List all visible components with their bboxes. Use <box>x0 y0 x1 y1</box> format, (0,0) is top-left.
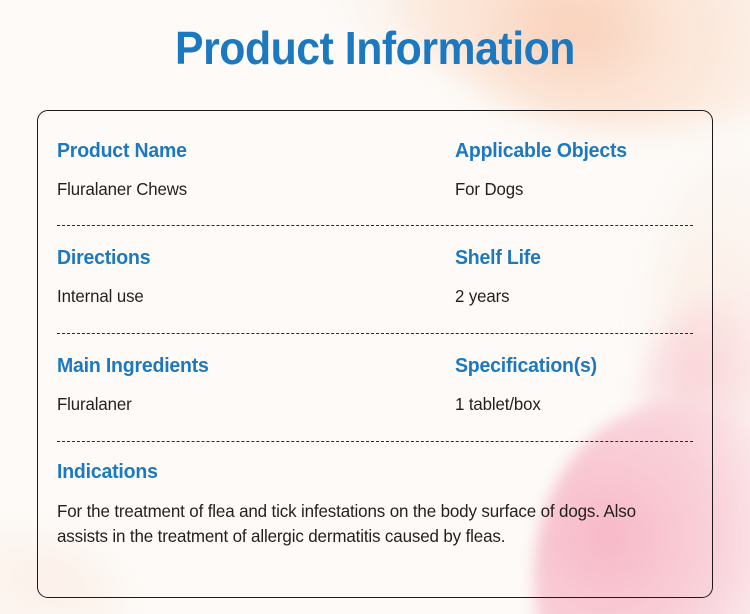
field-label-main-ingredients: Main Ingredients <box>57 354 435 378</box>
field-value-product-name: Fluralaner Chews <box>57 178 439 200</box>
info-row-product-name: Product Name Fluralaner Chews Applicable… <box>57 111 693 200</box>
field-label-specifications: Specification(s) <box>455 354 681 378</box>
info-field-specifications: Specification(s) 1 tablet/box <box>455 354 693 415</box>
info-field-directions: Directions Internal use <box>57 246 455 307</box>
field-label-applicable-objects: Applicable Objects <box>455 139 681 163</box>
info-field-indications: Indications For the treatment of flea an… <box>57 442 693 548</box>
field-value-main-ingredients: Fluralaner <box>57 393 439 415</box>
field-value-specifications: 1 tablet/box <box>455 393 683 415</box>
field-label-indications: Indications <box>57 460 661 484</box>
product-information-card: Product Name Fluralaner Chews Applicable… <box>37 110 713 598</box>
info-field-applicable-objects: Applicable Objects For Dogs <box>455 139 693 200</box>
field-value-shelf-life: 2 years <box>455 285 683 307</box>
info-row-directions: Directions Internal use Shelf Life 2 yea… <box>57 226 693 307</box>
product-information-card-page: Product Information Product Name Flurala… <box>0 0 750 614</box>
info-row-main-ingredients: Main Ingredients Fluralaner Specificatio… <box>57 334 693 415</box>
field-value-applicable-objects: For Dogs <box>455 178 683 200</box>
page-title: Product Information <box>26 20 724 76</box>
info-field-shelf-life: Shelf Life 2 years <box>455 246 693 307</box>
field-label-product-name: Product Name <box>57 139 435 163</box>
info-field-product-name: Product Name Fluralaner Chews <box>57 139 455 200</box>
field-value-indications: For the treatment of flea and tick infes… <box>57 499 670 548</box>
card-content: Product Name Fluralaner Chews Applicable… <box>57 111 693 597</box>
field-label-directions: Directions <box>57 246 435 270</box>
field-value-directions: Internal use <box>57 285 439 307</box>
info-field-main-ingredients: Main Ingredients Fluralaner <box>57 354 455 415</box>
field-label-shelf-life: Shelf Life <box>455 246 681 270</box>
